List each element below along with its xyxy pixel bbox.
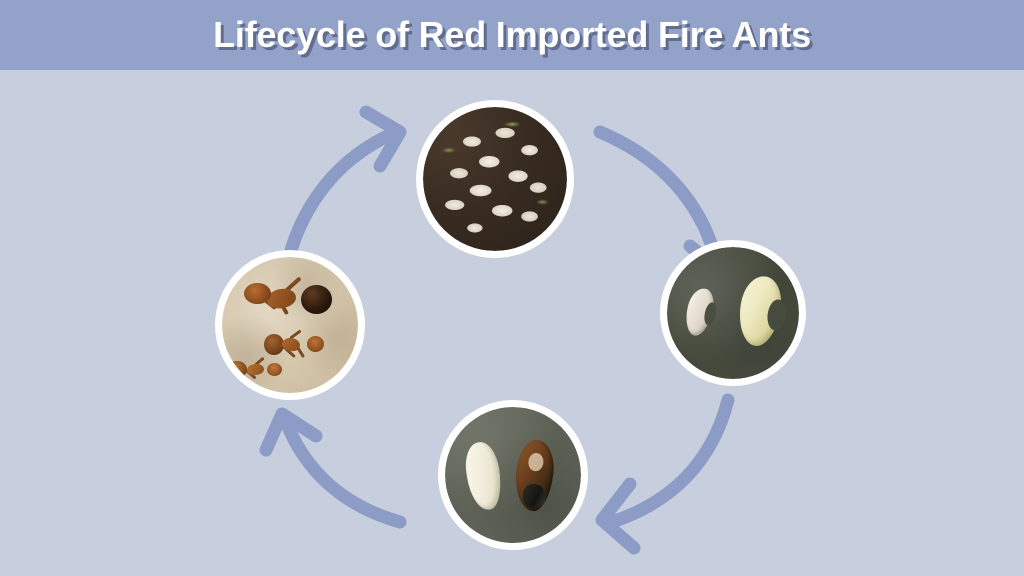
ant-gaster: [264, 334, 284, 355]
larva-stage-photo: [667, 247, 799, 379]
ant-head: [267, 363, 283, 376]
adult-ant-large: [238, 273, 333, 319]
ant-gaster: [301, 285, 331, 314]
page-title: Lifecycle of Red Imported Fire Ants: [213, 15, 811, 55]
lifecycle-diagram: [0, 70, 1024, 576]
arrow-larva-to-pupa: [602, 400, 728, 548]
pupa-dark-shape: [512, 438, 556, 512]
arrow-pupa-to-adult: [266, 414, 400, 522]
ant-head: [307, 336, 324, 352]
pupa-stage-photo: [445, 407, 581, 543]
ant-thorax: [246, 363, 264, 376]
ant-gaster: [227, 361, 246, 378]
node-egg[interactable]: [416, 100, 574, 258]
adult-ant-small: [227, 355, 287, 385]
header-banner: Lifecycle of Red Imported Fire Ants: [0, 0, 1024, 70]
ant-head: [244, 283, 271, 304]
egg-stage-photo: [423, 107, 567, 251]
node-adult[interactable]: [215, 250, 365, 400]
pupa-white-shape: [462, 440, 504, 512]
adult-stage-photo: [222, 257, 358, 393]
node-pupa[interactable]: [438, 400, 588, 550]
node-larva[interactable]: [660, 240, 806, 386]
larva-large-shape: [735, 274, 784, 349]
larva-small-shape: [682, 286, 716, 338]
slide: Lifecycle of Red Imported Fire Ants: [0, 0, 1024, 576]
